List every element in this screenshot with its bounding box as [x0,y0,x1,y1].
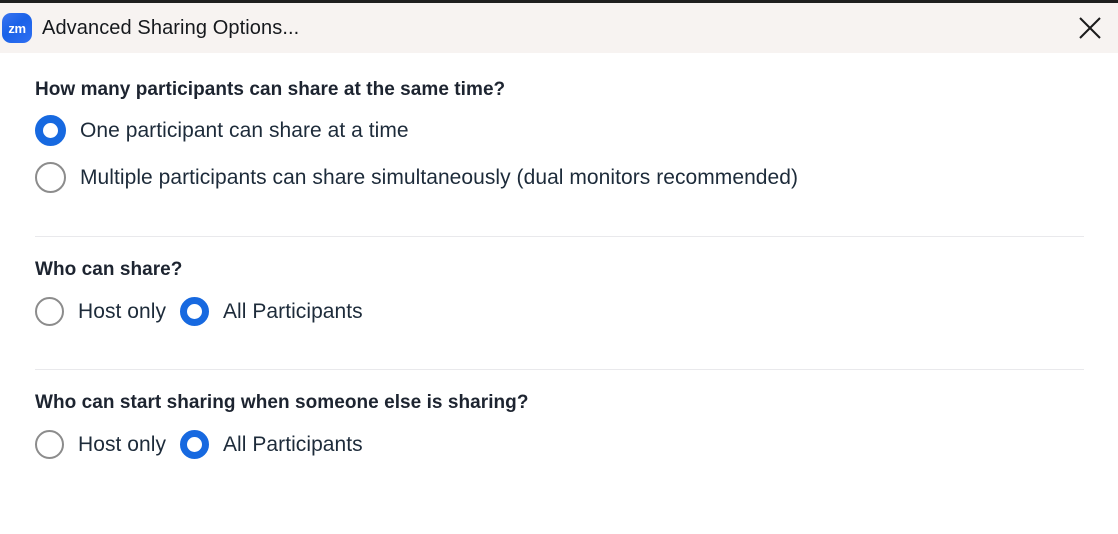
radio-label-who-can-start-sharing-all-participants: All Participants [223,433,363,457]
radio-label-who-can-share-host-only: Host only [78,300,166,324]
radio-row-one-participant[interactable]: One participant can share at a time [35,115,1083,146]
close-icon [1077,15,1103,41]
radio-multiple-participants[interactable] [35,162,66,193]
divider-1 [35,236,1084,237]
window-title: Advanced Sharing Options... [42,17,299,40]
section-heading-participants-count: How many participants can share at the s… [35,79,1083,101]
title-bar: zm Advanced Sharing Options... [0,3,1118,53]
dialog-body: How many participants can share at the s… [0,53,1118,534]
radio-label-who-can-start-sharing-host-only: Host only [78,433,166,457]
close-button[interactable] [1062,3,1118,53]
radio-who-can-share-all-participants[interactable] [180,297,209,326]
section-heading-who-can-share: Who can share? [35,259,1083,281]
section-who-can-start-sharing: Who can start sharing when someone else … [35,392,1083,459]
advanced-sharing-options-dialog: zm Advanced Sharing Options... How many … [0,0,1118,534]
radio-label-one-participant: One participant can share at a time [80,119,409,143]
radio-who-can-start-sharing-all-participants[interactable] [180,430,209,459]
radio-one-participant[interactable] [35,115,66,146]
section-heading-who-can-start-sharing: Who can start sharing when someone else … [35,392,1083,414]
radio-label-multiple-participants: Multiple participants can share simultan… [80,166,798,190]
zoom-logo-icon: zm [2,13,32,43]
radio-who-can-share-host-only[interactable] [35,297,64,326]
section-participants-count: How many participants can share at the s… [35,79,1083,193]
divider-2 [35,369,1084,370]
section-who-can-share: Who can share? Host only All Participant… [35,259,1083,326]
radio-group-who-can-start-sharing: Host only All Participants [35,430,1083,459]
radio-who-can-start-sharing-host-only[interactable] [35,430,64,459]
radio-label-who-can-share-all-participants: All Participants [223,300,363,324]
zoom-logo-text: zm [8,22,25,35]
radio-row-multiple-participants[interactable]: Multiple participants can share simultan… [35,162,1083,193]
radio-group-who-can-share: Host only All Participants [35,297,1083,326]
